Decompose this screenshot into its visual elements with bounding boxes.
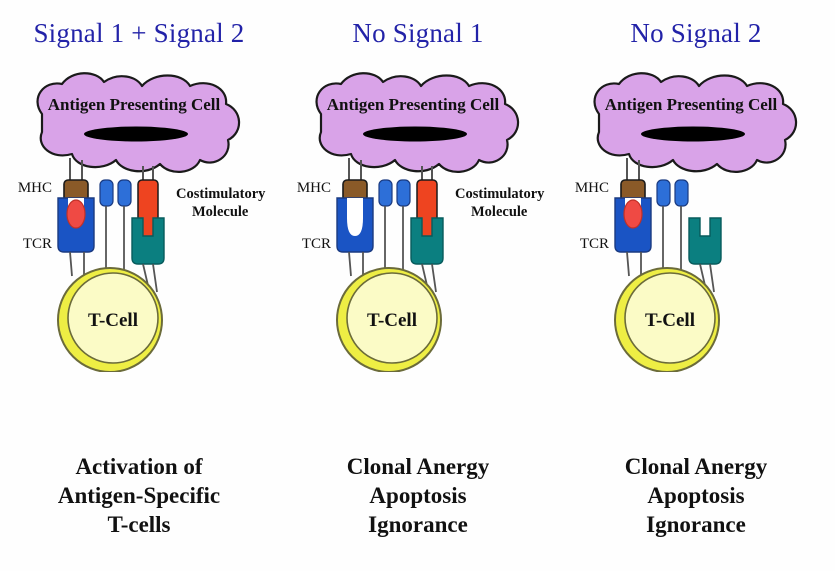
cd28-stem — [710, 264, 714, 292]
outcome-line: Apoptosis — [279, 481, 557, 510]
adhesion-molecule-icon — [397, 180, 410, 206]
outcome-text: Clonal Anergy Apoptosis Ignorance — [279, 452, 557, 539]
adhesion-molecule-icon — [675, 180, 688, 206]
nucleus-icon — [363, 127, 467, 142]
antigen-presenting-cell-icon — [595, 73, 797, 172]
panel-no-signal-1: No Signal 1 Antigen Presenting Cell — [279, 0, 557, 571]
tcr-label: TCR — [302, 236, 331, 252]
panel-illustration: Antigen Presenting Cell T — [279, 62, 557, 372]
outcome-line: Antigen-Specific — [0, 481, 278, 510]
t-cell-activation-diagram: Signal 1 + Signal 2 Antigen Presenting C… — [0, 0, 835, 571]
mhc-label: MHC — [18, 180, 52, 196]
outcome-line: Clonal Anergy — [279, 452, 557, 481]
outcome-line: T-cells — [0, 510, 278, 539]
adhesion-molecule-icon — [100, 180, 113, 206]
panel-title: Signal 1 + Signal 2 — [0, 18, 278, 48]
tcr-stem — [627, 252, 629, 276]
panel-title: No Signal 1 — [279, 18, 557, 48]
tcr-stem — [70, 252, 72, 276]
antigen-presenting-cell-icon — [38, 73, 240, 172]
panel-title: No Signal 2 — [557, 18, 835, 48]
mhc-label: MHC — [575, 180, 609, 196]
panel-illustration: Antigen Presenting Cell — [0, 62, 278, 372]
tcr-stem — [349, 252, 351, 276]
antigen-presenting-cell-icon — [317, 73, 519, 172]
t-cell-label: T-Cell — [367, 310, 417, 331]
panel-no-signal-2: No Signal 2 Antigen Presenting Cell — [557, 0, 835, 571]
adhesion-molecule-icon — [379, 180, 392, 206]
antigen-peptide-icon — [67, 200, 85, 228]
tcr-label: TCR — [23, 236, 52, 252]
costimulatory-label: Costimulatory — [176, 186, 266, 202]
cd28-stem — [153, 264, 157, 292]
outcome-line: Ignorance — [279, 510, 557, 539]
tcr-groove-empty — [347, 198, 363, 236]
outcome-text: Activation of Antigen-Specific T-cells — [0, 452, 278, 539]
costimulatory-label: Molecule — [471, 204, 528, 220]
adhesion-molecule-icon — [118, 180, 131, 206]
outcome-text: Clonal Anergy Apoptosis Ignorance — [557, 452, 835, 539]
apc-label: Antigen Presenting Cell — [48, 95, 221, 114]
costimulatory-label: Costimulatory — [455, 186, 545, 202]
panel-illustration: Antigen Presenting Cell T-Cell — [557, 62, 835, 372]
t-cell-label: T-Cell — [88, 310, 138, 331]
tcr-label: TCR — [580, 236, 609, 252]
outcome-line: Activation of — [0, 452, 278, 481]
nucleus-icon — [84, 127, 188, 142]
outcome-line: Clonal Anergy — [557, 452, 835, 481]
antigen-peptide-icon — [624, 200, 642, 228]
costimulatory-label: Molecule — [192, 204, 249, 220]
apc-label: Antigen Presenting Cell — [327, 95, 500, 114]
panel-signal-1-plus-signal-2: Signal 1 + Signal 2 Antigen Presenting C… — [0, 0, 278, 571]
nucleus-icon — [641, 127, 745, 142]
outcome-line: Apoptosis — [557, 481, 835, 510]
mhc-label: MHC — [297, 180, 331, 196]
adhesion-molecule-icon — [657, 180, 670, 206]
outcome-line: Ignorance — [557, 510, 835, 539]
cd28-stem — [432, 264, 436, 292]
t-cell-label: T-Cell — [645, 310, 695, 331]
costimulatory-receptor-icon — [689, 218, 721, 264]
apc-label: Antigen Presenting Cell — [605, 95, 778, 114]
